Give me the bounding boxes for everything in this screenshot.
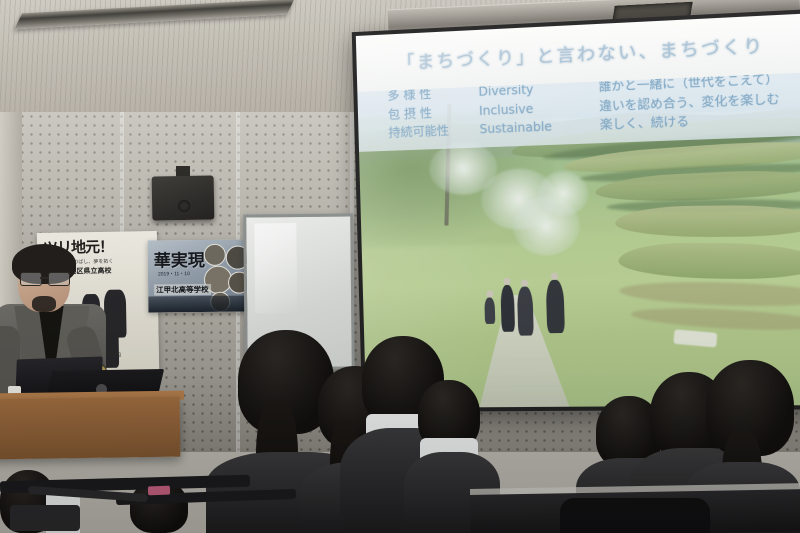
glasses-icon bbox=[20, 272, 70, 284]
presenter-goatee bbox=[32, 296, 56, 312]
photo-rice-terrace bbox=[615, 204, 800, 237]
photo-rice-terrace bbox=[618, 242, 800, 280]
poster-right-school: 江甲北高等学校 bbox=[154, 284, 211, 296]
glasses-lens-right bbox=[48, 272, 70, 286]
slide-term-en: Sustainable bbox=[479, 116, 600, 140]
podium bbox=[0, 397, 180, 460]
photo-blossom bbox=[537, 170, 588, 217]
poster-right-bottom-band bbox=[148, 295, 252, 312]
slide-term-jp: 持続可能性 bbox=[358, 120, 480, 143]
poster-right-calligraphy: 華実現 bbox=[154, 246, 205, 272]
photo-walking-person bbox=[500, 285, 515, 332]
photo-walking-person bbox=[546, 280, 565, 334]
slide-title: 「まちづくり」と言わない、まちづくり bbox=[397, 32, 765, 75]
photo-walker-head bbox=[486, 290, 493, 297]
photo-walking-person bbox=[517, 286, 534, 335]
chair-frame bbox=[10, 505, 80, 531]
photo-field-strip bbox=[619, 279, 800, 309]
wall-speaker-icon bbox=[152, 175, 215, 220]
photo-walker-head bbox=[551, 273, 558, 280]
chair-back bbox=[560, 498, 710, 533]
whiteboard-glare bbox=[254, 223, 297, 313]
poster-right-photo-circle bbox=[204, 244, 226, 266]
poster-right: 華実現 2019・11・10 江甲北高等学校 bbox=[148, 239, 253, 312]
glasses-lens-left bbox=[20, 272, 42, 286]
photo-walker-head bbox=[503, 278, 510, 285]
poster-right-date: 2019・11・10 bbox=[158, 270, 190, 277]
photo-walking-person bbox=[484, 297, 495, 324]
speaker-cone bbox=[178, 200, 190, 212]
photo-field-strip bbox=[630, 305, 800, 334]
photo-walker-head bbox=[521, 279, 528, 286]
photo-stone-marker bbox=[673, 329, 717, 347]
lecture-room-photo: 多 様 性 Diversity 誰かと一緒に（世代をこえて） 包 摂 性 Inc… bbox=[0, 0, 800, 533]
pink-item-on-desk bbox=[148, 486, 170, 496]
